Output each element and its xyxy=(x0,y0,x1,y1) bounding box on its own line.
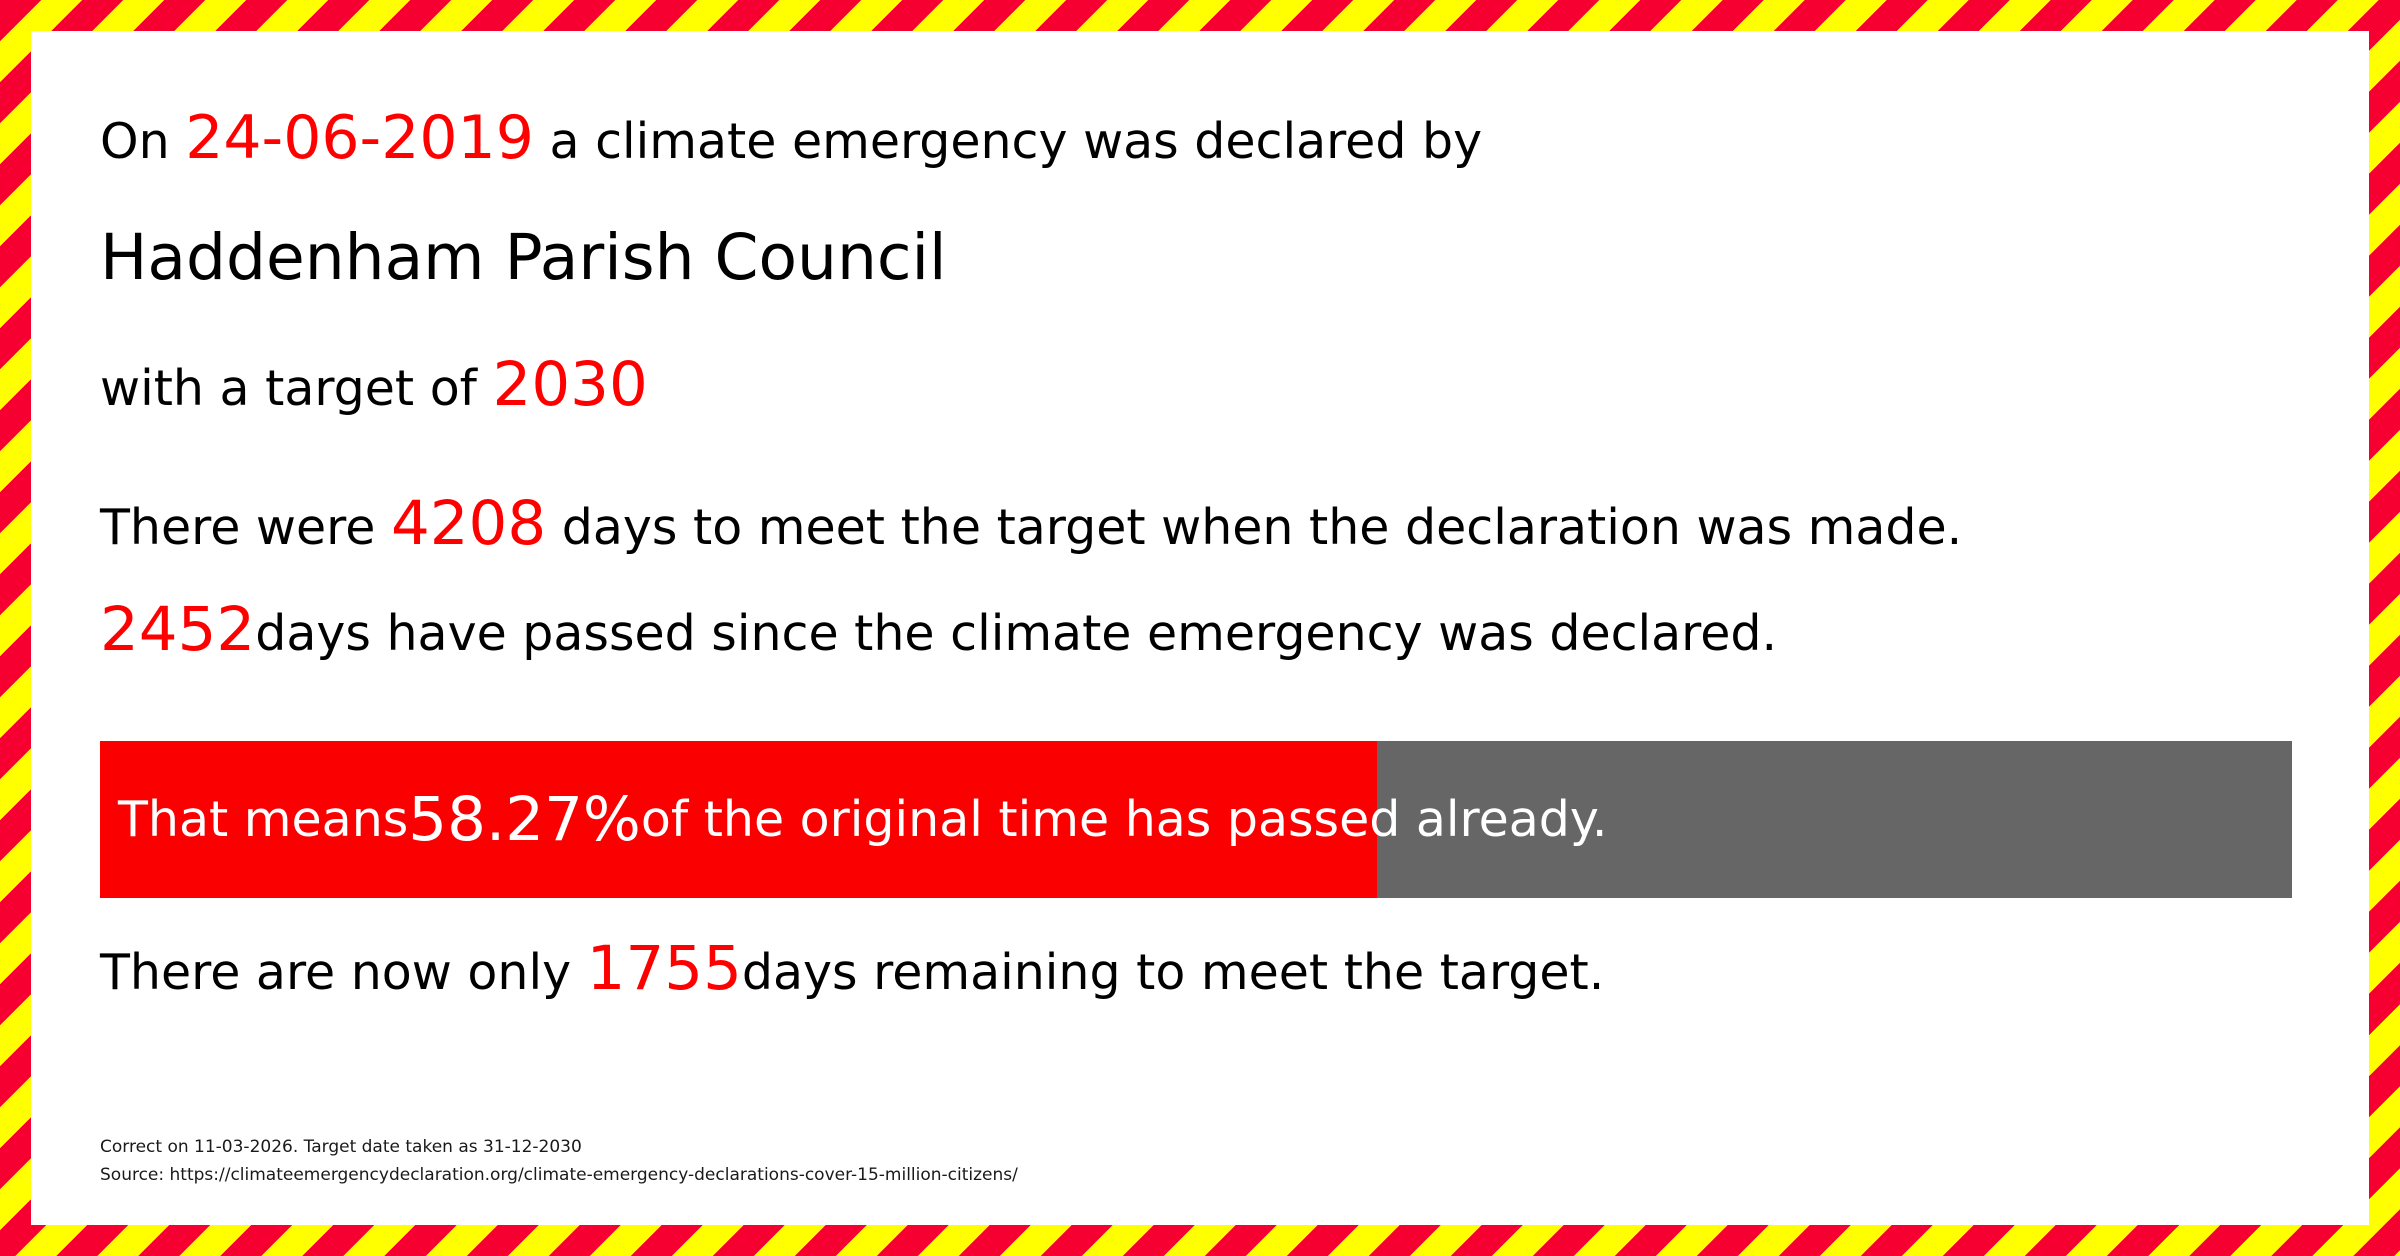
poster-card: On 24-06-2019 a climate emergency was de… xyxy=(31,31,2369,1225)
progress-percent-value: 58.27% xyxy=(408,789,641,850)
days-remaining-value: 1755 xyxy=(587,933,742,1004)
days-remaining-suffix: days remaining to meet the target. xyxy=(742,944,1604,1001)
days-to-meet-suffix: days to meet the target when the declara… xyxy=(546,499,1962,556)
days-remaining-line: There are now only 1755days remaining to… xyxy=(100,938,1604,999)
target-prefix: with a target of xyxy=(100,360,493,417)
progress-bar-label: That means 58.27% of the original time h… xyxy=(118,741,1607,898)
declaration-date: 24-06-2019 xyxy=(185,103,534,173)
poster-content: On 24-06-2019 a climate emergency was de… xyxy=(100,31,2309,1225)
days-passed-suffix: days have passed since the climate emerg… xyxy=(255,605,1777,662)
hazard-poster: On 24-06-2019 a climate emergency was de… xyxy=(0,0,2400,1256)
days-to-meet-line: There were 4208 days to meet the target … xyxy=(100,493,1962,554)
days-to-meet-prefix: There were xyxy=(100,499,391,556)
target-year: 2030 xyxy=(493,349,648,420)
progress-bar: That means 58.27% of the original time h… xyxy=(100,741,2292,898)
target-line: with a target of 2030 xyxy=(100,354,648,415)
declaration-headline: On 24-06-2019 a climate emergency was de… xyxy=(100,108,1482,168)
days-to-meet-value: 4208 xyxy=(391,488,546,559)
days-remaining-prefix: There are now only xyxy=(100,944,587,1001)
footer-source: Source: https://climateemergencydeclarat… xyxy=(100,1163,1018,1188)
days-passed-line: 2452days have passed since the climate e… xyxy=(100,599,1777,660)
council-name: Haddenham Parish Council xyxy=(100,226,947,289)
progress-label-prefix: That means xyxy=(118,795,408,844)
footer-correct-on: Correct on 11-03-2026. Target date taken… xyxy=(100,1135,1018,1160)
progress-label-suffix: of the original time has passed already. xyxy=(641,795,1608,844)
days-passed-value: 2452 xyxy=(100,594,255,665)
declaration-suffix: a climate emergency was declared by xyxy=(534,113,1482,170)
footer: Correct on 11-03-2026. Target date taken… xyxy=(100,1135,1018,1187)
declaration-prefix: On xyxy=(100,113,185,170)
